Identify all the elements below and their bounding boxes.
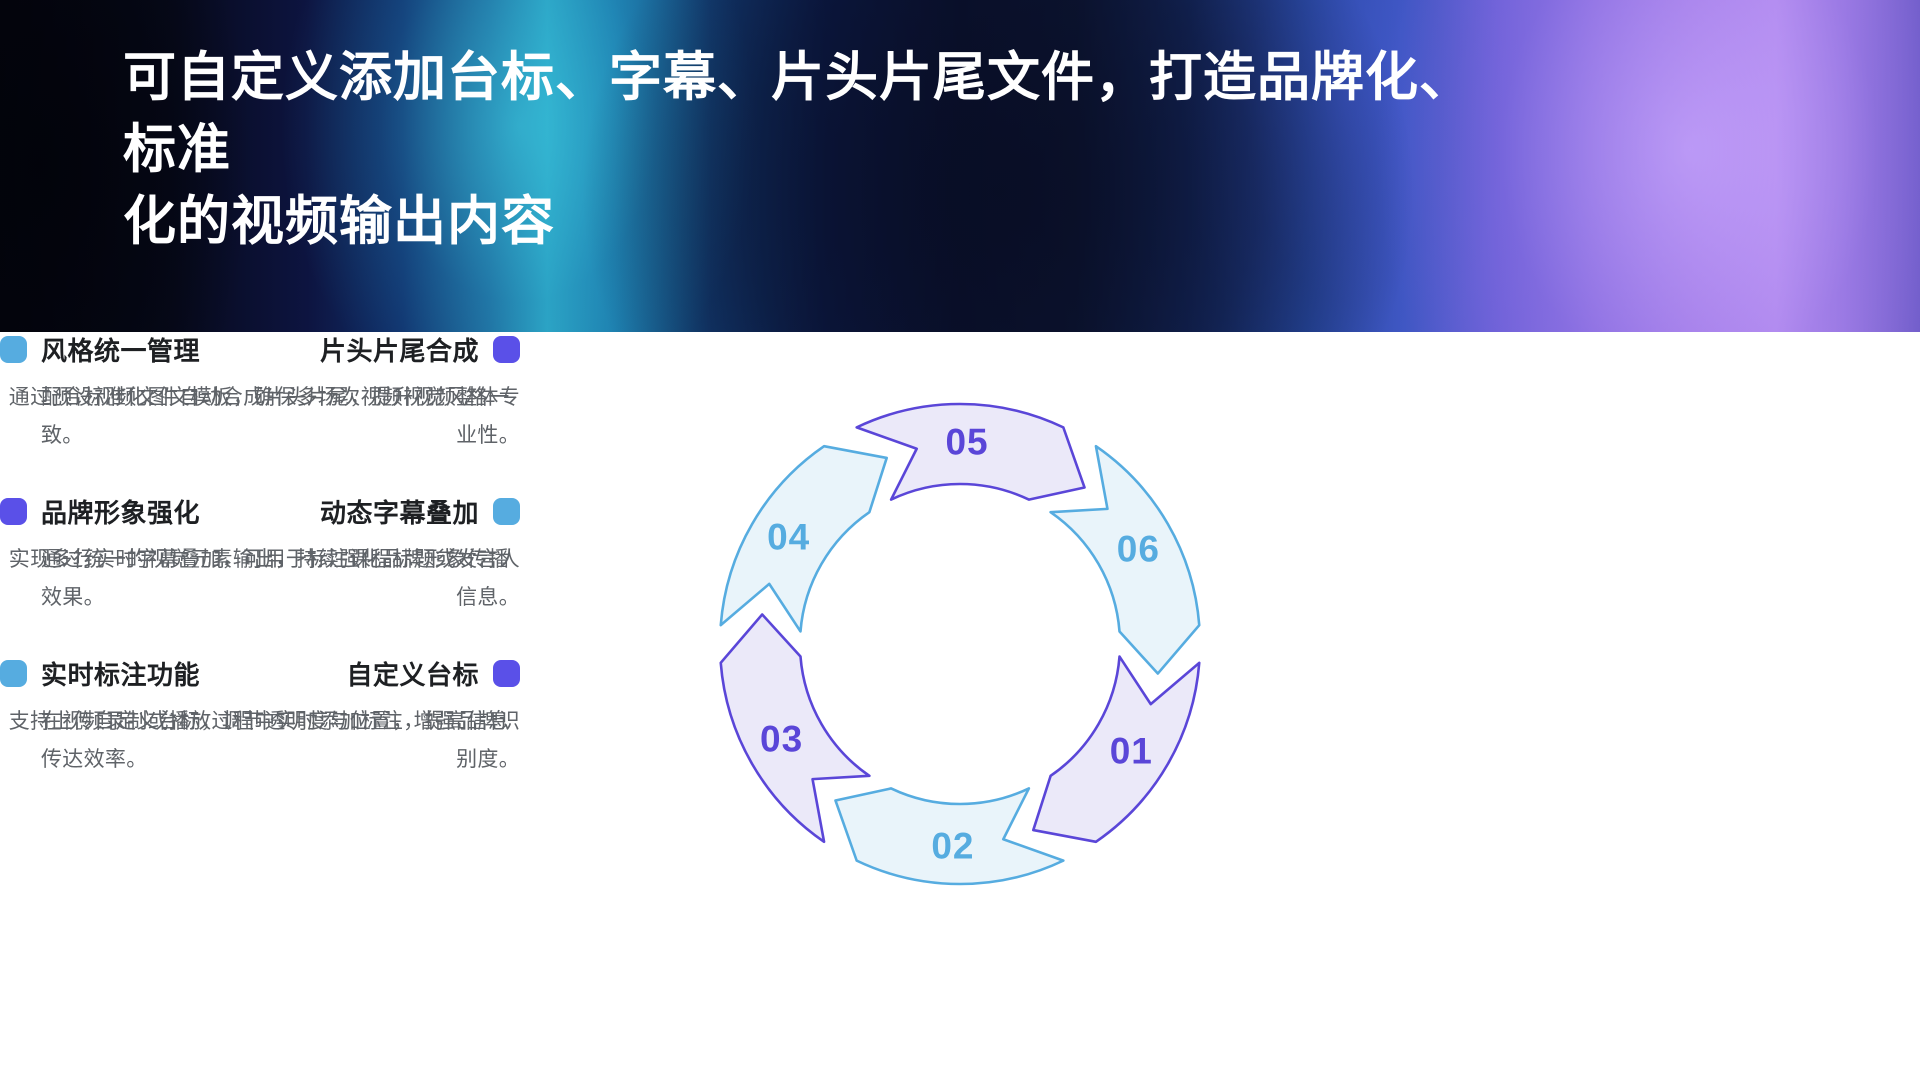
feature-header: 实时标注功能	[0, 656, 520, 690]
feature-description: 通过统一的视觉元素输出，持续强化品牌形象传播效果。	[0, 541, 520, 617]
ring-segment-label-03: 03	[760, 718, 803, 759]
feature-item-shi-shi-biao-zhu[interactable]: 实时标注功能 在视频录制或播放过程中实时添加标注，提高信息传达效率。	[0, 656, 520, 779]
page-title: 可自定义添加台标、字幕、片头片尾文件，打造品牌化、标准 化的视频输出内容	[123, 42, 1523, 258]
feature-item-pin-pai-xing-xiang[interactable]: 品牌形象强化 通过统一的视觉元素输出，持续强化品牌形象传播效果。	[0, 494, 520, 617]
swatch-icon-blue	[0, 336, 27, 363]
feature-description: 配合标准化图文模板，确保多场次视频视觉风格一致。	[0, 379, 520, 455]
content-area: 片头片尾合成 通过预设视频文件自动合成片头片尾，提升视频整体专业性。 动态字幕叠…	[0, 332, 1920, 1080]
header-banner: 可自定义添加台标、字幕、片头片尾文件，打造品牌化、标准 化的视频输出内容	[0, 0, 1920, 332]
ring-segment-label-04: 04	[767, 516, 810, 557]
swatch-icon-purple	[0, 498, 27, 525]
ring-svg: 010203040506	[690, 374, 1230, 914]
ring-segment-label-01: 01	[1110, 731, 1153, 772]
circular-process-diagram: 010203040506	[690, 374, 1230, 914]
feature-item-feng-ge-tong-yi[interactable]: 风格统一管理 配合标准化图文模板，确保多场次视频视觉风格一致。	[0, 332, 520, 455]
swatch-icon-blue	[0, 660, 27, 687]
feature-title: 实时标注功能	[41, 655, 200, 692]
feature-title: 品牌形象强化	[41, 493, 200, 530]
ring-segment-label-06: 06	[1117, 529, 1160, 570]
feature-header: 风格统一管理	[0, 332, 520, 366]
ring-segment-label-05: 05	[945, 422, 988, 463]
feature-description: 在视频录制或播放过程中实时添加标注，提高信息传达效率。	[0, 703, 520, 779]
feature-title: 风格统一管理	[41, 331, 200, 368]
feature-header: 品牌形象强化	[0, 494, 520, 528]
ring-segment-label-02: 02	[931, 825, 974, 866]
